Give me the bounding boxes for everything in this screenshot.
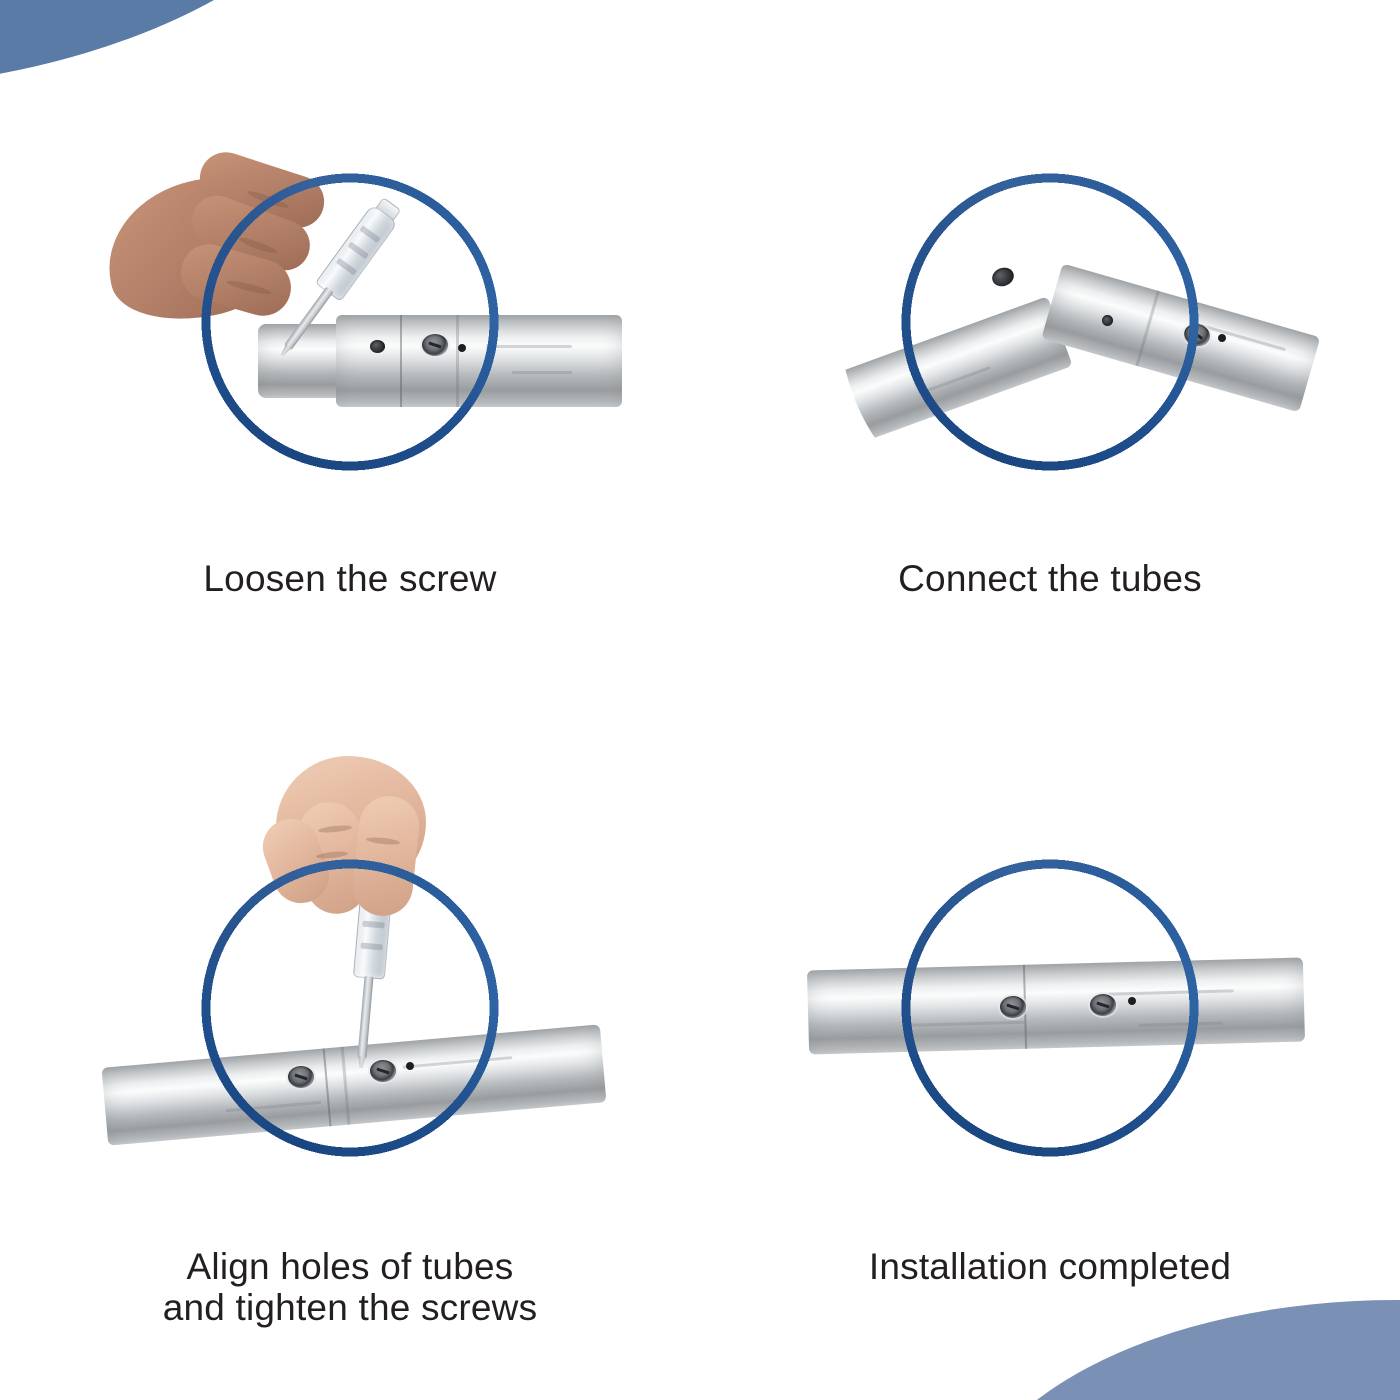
instruction-sheet: Loosen the screw xyxy=(0,0,1400,1400)
step-4-ring xyxy=(840,798,1260,1218)
step-1: Loosen the screw xyxy=(0,0,700,700)
step-4-media xyxy=(840,798,1260,1218)
step-3-media xyxy=(140,798,560,1218)
step-2-media xyxy=(840,112,1260,532)
step-3-caption: Align holes of tubes and tighten the scr… xyxy=(163,1246,538,1329)
step-3-ring xyxy=(140,798,560,1218)
step-2: Connect the tubes xyxy=(700,0,1400,700)
step-2-ring xyxy=(840,112,1260,532)
step-1-media xyxy=(140,112,560,532)
step-4-caption: Installation completed xyxy=(869,1246,1231,1287)
step-2-caption: Connect the tubes xyxy=(898,558,1202,599)
step-1-ring xyxy=(140,112,560,532)
step-1-caption: Loosen the screw xyxy=(203,558,496,599)
step-3: Align holes of tubes and tighten the scr… xyxy=(0,700,700,1400)
step-4: Installation completed xyxy=(700,700,1400,1400)
steps-grid: Loosen the screw xyxy=(0,0,1400,1400)
